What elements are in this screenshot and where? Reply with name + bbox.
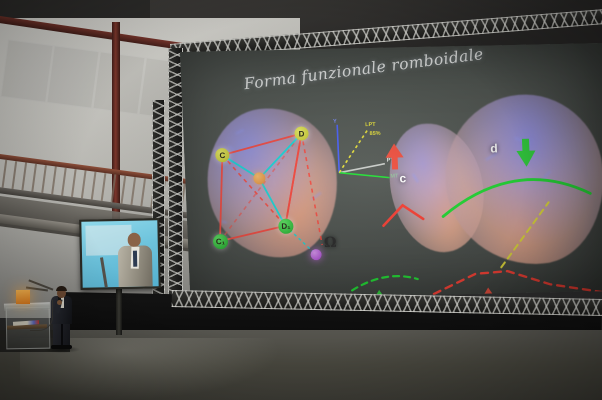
- confidence-monitor: [79, 218, 160, 290]
- screen-vignette: [180, 43, 602, 300]
- speaker-hand: [57, 300, 62, 305]
- monitor-feed-speaker-head: [128, 233, 141, 247]
- speaker-hair: [56, 286, 67, 291]
- monitor-feed-mic-stand: [100, 257, 108, 287]
- amber-lamp: [16, 290, 30, 304]
- monitor-screen: [81, 220, 158, 288]
- monitor-stand: [116, 289, 122, 335]
- monitor-feed-speaker-tie: [133, 251, 137, 267]
- presentation-hall-photo: Forma funzionale romboidale C D: [0, 0, 602, 400]
- speaker-shoes: [51, 345, 72, 349]
- projection-screen: Forma funzionale romboidale C D: [180, 43, 602, 300]
